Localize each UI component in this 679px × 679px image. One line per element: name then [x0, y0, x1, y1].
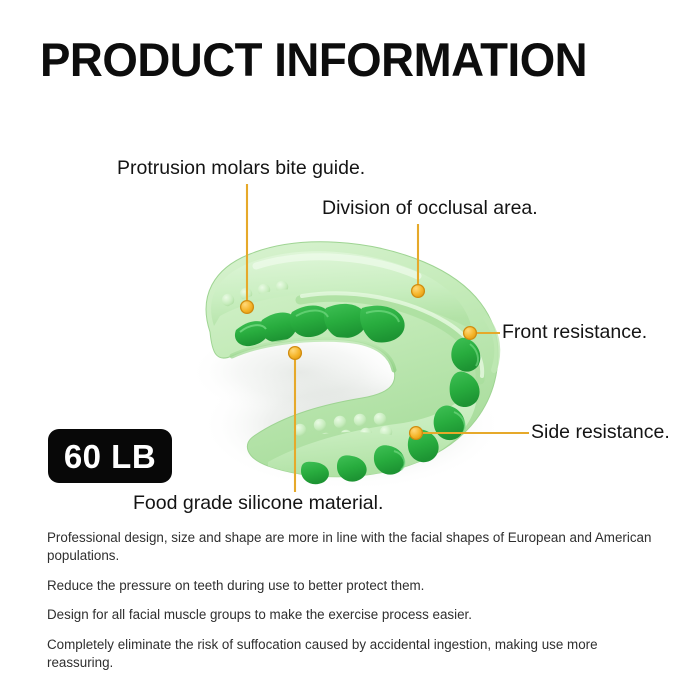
- marker-dot-protrusion: [241, 301, 254, 314]
- callout-markers: [241, 285, 477, 440]
- product-information-page: PRODUCT INFORMATION: [0, 0, 679, 679]
- callout-label-front: Front resistance.: [502, 323, 647, 343]
- marker-dot-occlusal: [412, 285, 425, 298]
- callout-label-silicone: Food grade silicone material.: [133, 494, 383, 514]
- tooth-slots-upper: [235, 304, 405, 346]
- body-highlight: [256, 257, 418, 276]
- weight-badge-label: 60 LB: [64, 440, 156, 473]
- marker-dot-front: [464, 327, 477, 340]
- description-line: Completely eliminate the risk of suffoca…: [47, 636, 661, 672]
- mouthguard-body: [206, 242, 498, 484]
- page-title: PRODUCT INFORMATION: [40, 32, 587, 87]
- body-lower-face: [268, 382, 477, 477]
- protrusion-bumps-lower: [294, 413, 392, 463]
- body-inner-rim: [232, 339, 394, 370]
- product-shadow-soft: [188, 326, 412, 418]
- marker-dot-side: [410, 427, 423, 440]
- front-resistance-edge: [486, 318, 497, 370]
- marker-dot-silicone: [289, 347, 302, 360]
- tooth-slots-lower: [301, 338, 480, 484]
- description-line: Reduce the pressure on teeth during use …: [47, 577, 661, 595]
- callout-label-occlusal: Division of occlusal area.: [322, 199, 538, 219]
- callout-label-protrusion: Protrusion molars bite guide.: [117, 159, 365, 179]
- callout-label-side: Side resistance.: [531, 423, 670, 443]
- description-line: Professional design, size and shape are …: [47, 529, 661, 565]
- product-shadow: [200, 359, 504, 491]
- body-upper-face: [211, 251, 472, 330]
- protrusion-bumps-upper: [222, 281, 292, 333]
- description-block: Professional design, size and shape are …: [47, 529, 661, 672]
- body-outer: [206, 242, 498, 477]
- status-badge: 60 LB: [48, 429, 172, 483]
- occlusal-division-groove: [300, 297, 480, 380]
- description-line: Design for all facial muscle groups to m…: [47, 606, 661, 624]
- leader-lines: [247, 184, 529, 492]
- occlusal-division-groove-highlight: [302, 293, 482, 376]
